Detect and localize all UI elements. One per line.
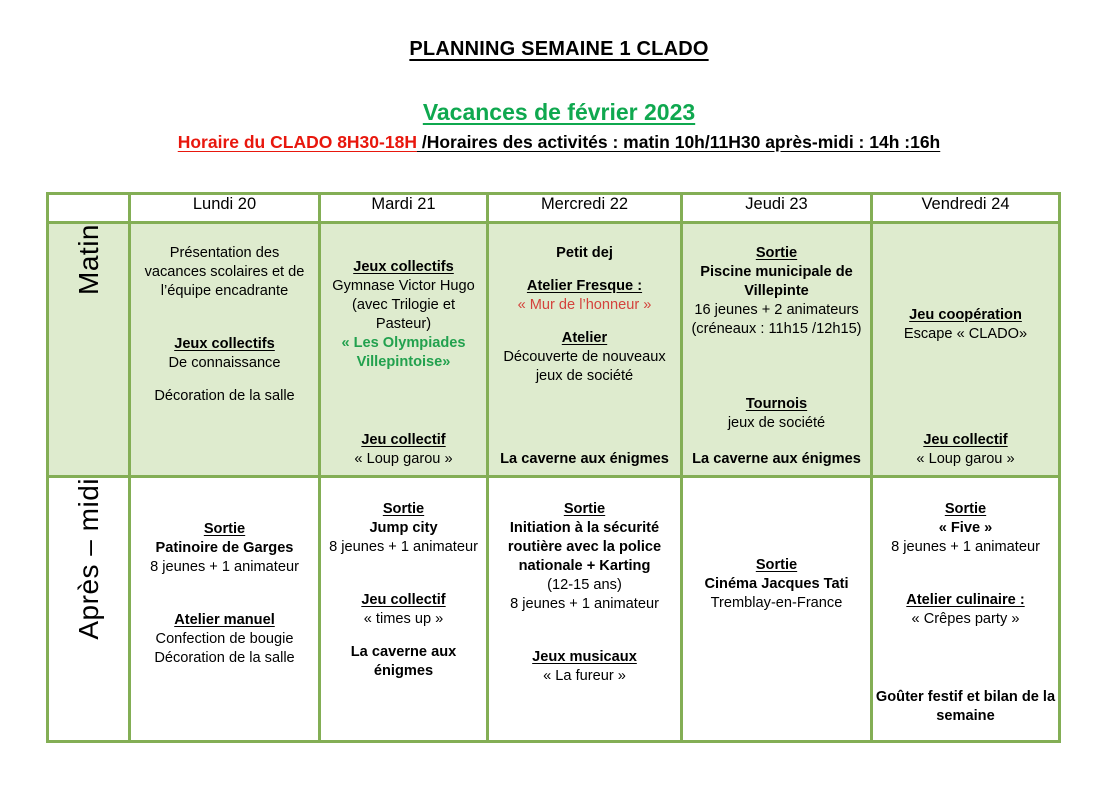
text-line-heading: Jeu collectif	[327, 591, 480, 610]
row-label-afternoon-cell: Après – midi	[48, 477, 130, 742]
table-header-row: Lundi 20 Mardi 21 Mercredi 22 Jeudi 23 V…	[48, 194, 1060, 223]
text-line: « La fureur »	[495, 667, 674, 686]
text-line: « Crêpes party »	[879, 610, 1052, 629]
text-line-heading: Atelier Fresque :	[495, 277, 674, 296]
text-line-heading: Cinéma Jacques Tati	[683, 575, 870, 594]
text-line-heading: Jeu coopération	[873, 306, 1058, 325]
text-line: « Loup garou »	[321, 450, 486, 469]
subtitle-green-row: Vacances de février 2023	[0, 61, 1118, 126]
text-line-heading: Sortie	[495, 500, 674, 519]
text-line-heading: Jump city	[327, 519, 480, 538]
planning-document: PLANNING SEMAINE 1 CLADO Vacances de fév…	[0, 0, 1118, 786]
text-line: 8 jeunes + 1 animateur	[137, 558, 312, 577]
text-line-heading: Jeux musicaux	[495, 648, 674, 667]
row-label-afternoon: Après – midi	[73, 478, 105, 640]
text-line-heading: routière avec la police	[495, 538, 674, 557]
cell-morning-lundi: Présentation des vacances scolaires et d…	[130, 223, 320, 477]
text-line-heading: Atelier manuel	[137, 611, 312, 630]
text-line-heading: nationale + Karting	[495, 557, 674, 576]
text-line-heading: Atelier	[495, 329, 674, 348]
subtitle-vacances: Vacances de février 2023	[423, 99, 695, 126]
planning-table: Lundi 20 Mardi 21 Mercredi 22 Jeudi 23 V…	[46, 192, 1061, 743]
cell-morning-jeudi: Sortie Piscine municipale de Villepinte …	[682, 223, 872, 477]
text-line: 16 jeunes + 2 animateurs	[689, 301, 864, 320]
text-line-accent: « Mur de l’honneur »	[495, 296, 674, 315]
table-row-morning: Matin Présentation des vacances scolaire…	[48, 223, 1060, 477]
document-header: PLANNING SEMAINE 1 CLADO Vacances de fév…	[0, 0, 1118, 154]
text-line-heading: Petit dej	[495, 244, 674, 263]
text-line: « times up »	[327, 610, 480, 629]
text-line-accent: Villepintoise»	[327, 353, 480, 372]
text-line-heading: semaine	[873, 707, 1058, 726]
row-label-morning: Matin	[73, 224, 105, 295]
text-line-heading: Jeux collectifs	[327, 258, 480, 277]
text-line-heading: Tournois	[689, 395, 864, 414]
text-line: Tremblay-en-France	[683, 594, 870, 613]
page-title-row: PLANNING SEMAINE 1 CLADO	[0, 38, 1118, 61]
text-line: vacances scolaires et de	[137, 263, 312, 282]
cell-morning-vendredi: Jeu coopération Escape « CLADO» Jeu coll…	[872, 223, 1060, 477]
text-line: Présentation des	[137, 244, 312, 263]
text-line-heading: Villepinte	[689, 282, 864, 301]
corner-header-cell	[48, 194, 130, 223]
text-line-heading: Jeu collectif	[321, 431, 486, 450]
column-header-mardi: Mardi 21	[320, 194, 488, 223]
text-line-heading: Sortie	[683, 556, 870, 575]
column-header-jeudi: Jeudi 23	[682, 194, 872, 223]
text-line-heading: Initiation à la sécurité	[495, 519, 674, 538]
text-line: (créneaux : 11h15 /12h15)	[689, 320, 864, 339]
cell-morning-mardi: Jeux collectifs Gymnase Victor Hugo (ave…	[320, 223, 488, 477]
text-line-heading: La caverne aux énigmes	[683, 450, 870, 469]
text-line: Décoration de la salle	[137, 649, 312, 668]
text-line: Gymnase Victor Hugo	[327, 277, 480, 296]
row-label-morning-cell: Matin	[48, 223, 130, 477]
text-line-heading: Patinoire de Garges	[137, 539, 312, 558]
table-head: Lundi 20 Mardi 21 Mercredi 22 Jeudi 23 V…	[48, 194, 1060, 223]
text-line: 8 jeunes + 1 animateur	[327, 538, 480, 557]
text-line-heading: Jeu collectif	[873, 431, 1058, 450]
text-line: Escape « CLADO»	[873, 325, 1058, 344]
cell-afternoon-mercredi: Sortie Initiation à la sécurité routière…	[488, 477, 682, 742]
text-line: (avec Trilogie et Pasteur)	[327, 296, 480, 334]
cell-afternoon-mardi: Sortie Jump city 8 jeunes + 1 animateur …	[320, 477, 488, 742]
cell-afternoon-vendredi: Sortie « Five » 8 jeunes + 1 animateur A…	[872, 477, 1060, 742]
cell-morning-mercredi: Petit dej Atelier Fresque : « Mur de l’h…	[488, 223, 682, 477]
cell-afternoon-lundi: Sortie Patinoire de Garges 8 jeunes + 1 …	[130, 477, 320, 742]
text-line-heading: Sortie	[689, 244, 864, 263]
text-line-heading: Atelier culinaire :	[879, 591, 1052, 610]
text-line-heading: Sortie	[879, 500, 1052, 519]
planning-table-wrapper: Lundi 20 Mardi 21 Mercredi 22 Jeudi 23 V…	[46, 192, 1058, 743]
cell-afternoon-jeudi: Sortie Cinéma Jacques Tati Tremblay-en-F…	[682, 477, 872, 742]
text-line: (12-15 ans)	[495, 576, 674, 595]
table-row-afternoon: Après – midi Sortie Patinoire de Garges …	[48, 477, 1060, 742]
text-line-heading: « Five »	[879, 519, 1052, 538]
text-line: Découverte de nouveaux	[495, 348, 674, 367]
column-header-lundi: Lundi 20	[130, 194, 320, 223]
text-line: 8 jeunes + 1 animateur	[879, 538, 1052, 557]
text-line-heading: La caverne aux énigmes	[489, 450, 680, 469]
text-line-heading: Sortie	[137, 520, 312, 539]
column-header-mercredi: Mercredi 22	[488, 194, 682, 223]
text-line-heading: Goûter festif et bilan de la	[873, 688, 1058, 707]
text-line-heading: Jeux collectifs	[137, 335, 312, 354]
text-line: jeux de société	[689, 414, 864, 433]
page-title: PLANNING SEMAINE 1 CLADO	[409, 38, 708, 61]
subtitle-hours-clado: Horaire du CLADO 8H30-18H	[178, 132, 417, 152]
text-line-accent: « Les Olympiades	[327, 334, 480, 353]
text-line: « Loup garou »	[873, 450, 1058, 469]
text-line: Décoration de la salle	[137, 387, 312, 406]
text-line-heading: La caverne aux énigmes	[327, 643, 480, 681]
subtitle-hours-activities: /Horaires des activités : matin 10h/11H3…	[417, 132, 940, 152]
text-line: De connaissance	[137, 354, 312, 373]
table-body: Matin Présentation des vacances scolaire…	[48, 223, 1060, 742]
text-line: l’équipe encadrante	[137, 282, 312, 301]
column-header-vendredi: Vendredi 24	[872, 194, 1060, 223]
text-line: jeux de société	[495, 367, 674, 386]
text-line: 8 jeunes + 1 animateur	[495, 595, 674, 614]
text-line: Confection de bougie	[137, 630, 312, 649]
text-line-heading: Sortie	[327, 500, 480, 519]
subtitle-hours-row: Horaire du CLADO 8H30-18H /Horaires des …	[0, 132, 1118, 154]
text-line-heading: Piscine municipale de	[689, 263, 864, 282]
